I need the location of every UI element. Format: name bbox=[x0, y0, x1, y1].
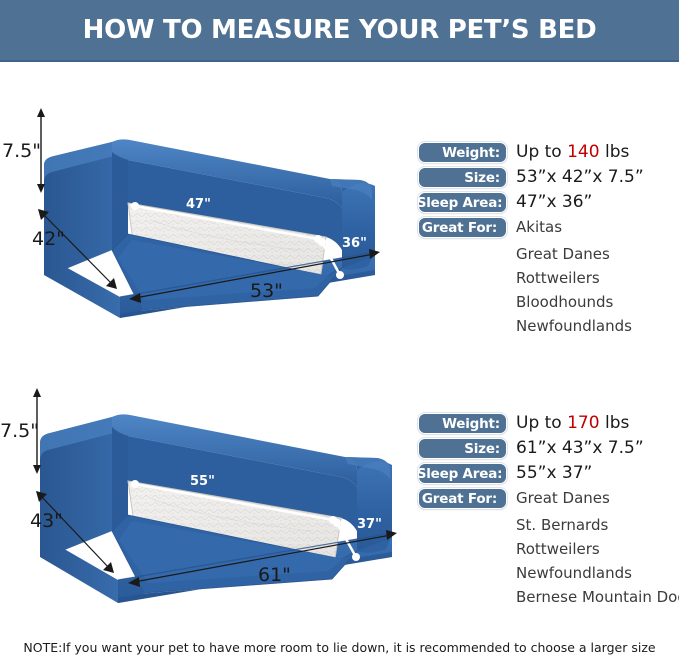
inner-length-label-xlarge: 55" bbox=[190, 474, 215, 489]
spec-value-sleep-area: 47”x 36” bbox=[516, 192, 592, 213]
breed-item: St. Bernards bbox=[516, 513, 679, 537]
spec-row-sleep-area: Sleep Area: 47”x 36” bbox=[418, 192, 679, 217]
spec-label-sleep-area: Sleep Area: bbox=[418, 192, 507, 213]
spec-value-weight: Up to 170 lbs bbox=[516, 413, 629, 434]
svg-text:53": 53" bbox=[250, 280, 283, 302]
spec-row-great-for: Great For: Akitas bbox=[418, 217, 679, 242]
svg-text:43": 43" bbox=[30, 510, 63, 532]
spec-label-great-for: Great For: bbox=[418, 488, 507, 509]
breed-item: Great Danes bbox=[516, 242, 679, 266]
page-header: HOW TO MEASURE YOUR PET’S BED bbox=[0, 0, 679, 62]
breed-item: Bernese Mountain Dogs bbox=[516, 585, 679, 609]
spec-table-xlarge: Weight: Up to 170 lbs Size: 61”x 43”x 7.… bbox=[418, 413, 679, 609]
weight-suffix: lbs bbox=[600, 413, 630, 433]
bed-illustration-large: 47" 36" 7.5" 42" 53" bbox=[0, 100, 412, 350]
spec-label-size: Size: bbox=[418, 438, 507, 459]
spec-row-great-for: Great For: Great Danes bbox=[418, 488, 679, 513]
breed-item: Great Danes bbox=[516, 488, 610, 509]
weight-suffix: lbs bbox=[600, 142, 630, 162]
svg-text:55": 55" bbox=[190, 474, 215, 489]
spec-label-great-for: Great For: bbox=[418, 217, 507, 238]
height-dimension-large: 7.5" bbox=[2, 108, 45, 193]
spec-row-size: Size: 53”x 42”x 7.5” bbox=[418, 167, 679, 192]
spec-row-sleep-area: Sleep Area: 55”x 37” bbox=[418, 463, 679, 488]
weight-value: 170 bbox=[567, 413, 599, 433]
inner-width-label-xlarge: 37" bbox=[357, 517, 382, 532]
spec-value-sleep-area: 55”x 37” bbox=[516, 463, 592, 484]
bed-size-section-large: 47" 36" 7.5" 42" 53" bbox=[0, 100, 679, 350]
inner-length-label-large: 47" bbox=[186, 197, 211, 212]
weight-prefix: Up to bbox=[516, 413, 567, 433]
breed-item: Newfoundlands bbox=[516, 314, 679, 338]
breed-item: Newfoundlands bbox=[516, 561, 679, 585]
svg-text:61": 61" bbox=[258, 564, 291, 586]
spec-table-large: Weight: Up to 140 lbs Size: 53”x 42”x 7.… bbox=[418, 142, 679, 338]
breed-list-xlarge: St. Bernards Rottweilers Newfoundlands B… bbox=[516, 513, 679, 609]
breed-item: Akitas bbox=[516, 217, 562, 238]
inner-width-label-large: 36" bbox=[342, 236, 367, 251]
breed-item: Bloodhounds bbox=[516, 290, 679, 314]
footer-note: NOTE:If you want your pet to have more r… bbox=[0, 640, 679, 655]
spec-value-size: 61”x 43”x 7.5” bbox=[516, 438, 644, 459]
svg-text:37": 37" bbox=[357, 517, 382, 532]
spec-value-weight: Up to 140 lbs bbox=[516, 142, 629, 163]
weight-value: 140 bbox=[567, 142, 599, 162]
spec-row-size: Size: 61”x 43”x 7.5” bbox=[418, 438, 679, 463]
page-title: HOW TO MEASURE YOUR PET’S BED bbox=[83, 15, 597, 45]
svg-text:42": 42" bbox=[32, 228, 65, 250]
weight-prefix: Up to bbox=[516, 142, 567, 162]
height-dimension-xlarge: 7.5" bbox=[0, 388, 41, 474]
breed-item: Rottweilers bbox=[516, 266, 679, 290]
spec-label-sleep-area: Sleep Area: bbox=[418, 463, 507, 484]
spec-label-weight: Weight: bbox=[418, 142, 507, 163]
spec-row-weight: Weight: Up to 140 lbs bbox=[418, 142, 679, 167]
bed-illustration-xlarge: 55" 37" 7.5" 43" 61" bbox=[0, 375, 412, 625]
spec-value-size: 53”x 42”x 7.5” bbox=[516, 167, 644, 188]
breed-item: Rottweilers bbox=[516, 537, 679, 561]
bed-size-section-xlarge: 55" 37" 7.5" 43" 61" Weight: bbox=[0, 375, 679, 625]
svg-text:36": 36" bbox=[342, 236, 367, 251]
spec-label-size: Size: bbox=[418, 167, 507, 188]
svg-text:7.5": 7.5" bbox=[0, 420, 39, 442]
spec-row-weight: Weight: Up to 170 lbs bbox=[418, 413, 679, 438]
svg-text:47": 47" bbox=[186, 197, 211, 212]
svg-text:7.5": 7.5" bbox=[2, 140, 41, 162]
spec-label-weight: Weight: bbox=[418, 413, 507, 434]
breed-list-large: Great Danes Rottweilers Bloodhounds Newf… bbox=[516, 242, 679, 338]
